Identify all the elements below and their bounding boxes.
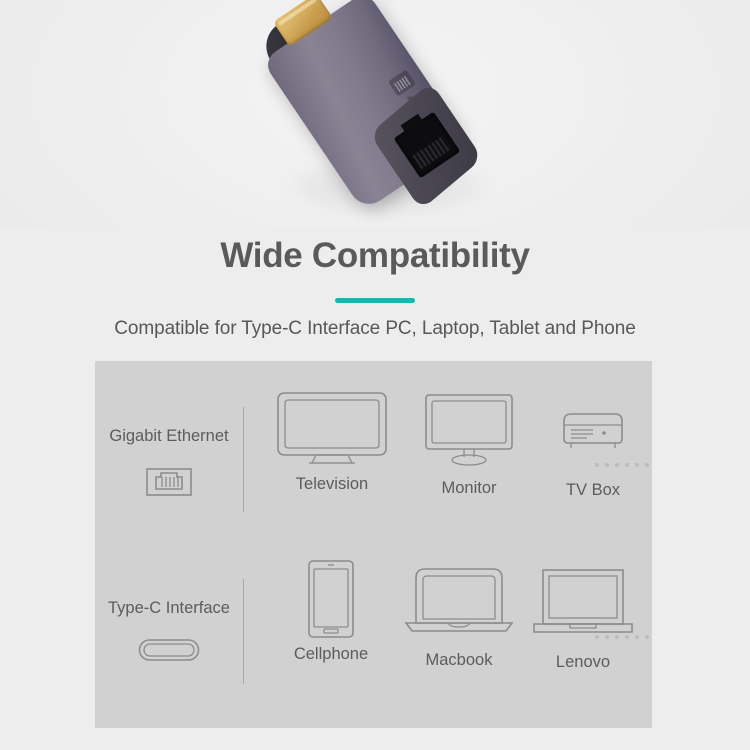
usb-c-to-ethernet-adapter-photo [258,0,508,228]
compat-item-lenovo: Lenovo [517,567,649,672]
title-underline-rule [335,298,415,303]
compat-row-type-c-interface: Type-C Interface Cellp [95,551,652,711]
cellphone-icon [255,559,407,645]
row-caption-cell: Type-C Interface [95,551,243,711]
rj45-port-icon [95,465,243,504]
compat-item-label: Television [257,475,407,494]
compat-item-label: Macbook [391,651,527,670]
compat-item-label: Monitor [405,479,533,498]
more-devices-dots [595,635,649,639]
television-icon [257,389,407,475]
usb-c-port-icon [95,637,243,668]
compat-item-tv-box: TV Box [529,409,657,500]
macbook-icon [391,565,527,651]
hero-product-image [0,0,750,228]
compatibility-panel: Gigabit Ethernet [95,361,652,728]
compat-item-cellphone: Cellphone [255,559,407,664]
compat-item-label: TV Box [529,481,657,500]
compat-row-gigabit-ethernet: Gigabit Ethernet [95,379,652,539]
compat-item-monitor: Monitor [405,393,533,498]
row-items: Television Monitor [255,379,652,539]
monitor-icon [405,393,533,479]
page-title: Wide Compatibility [0,236,750,276]
tv-box-icon [529,409,657,481]
row-caption-label: Type-C Interface [95,599,243,618]
row-items: Cellphone Macbook [255,551,652,711]
compat-item-television: Television [257,389,407,494]
row-divider [243,579,244,684]
compat-item-macbook: Macbook [391,565,527,670]
row-divider [243,407,244,512]
row-caption-label: Gigabit Ethernet [95,427,243,446]
more-devices-dots [595,463,649,467]
lenovo-laptop-icon [517,567,649,653]
row-caption-cell: Gigabit Ethernet [95,379,243,539]
compat-item-label: Lenovo [517,653,649,672]
page-subtitle: Compatible for Type-C Interface PC, Lapt… [0,318,750,340]
compat-item-label: Cellphone [255,645,407,664]
